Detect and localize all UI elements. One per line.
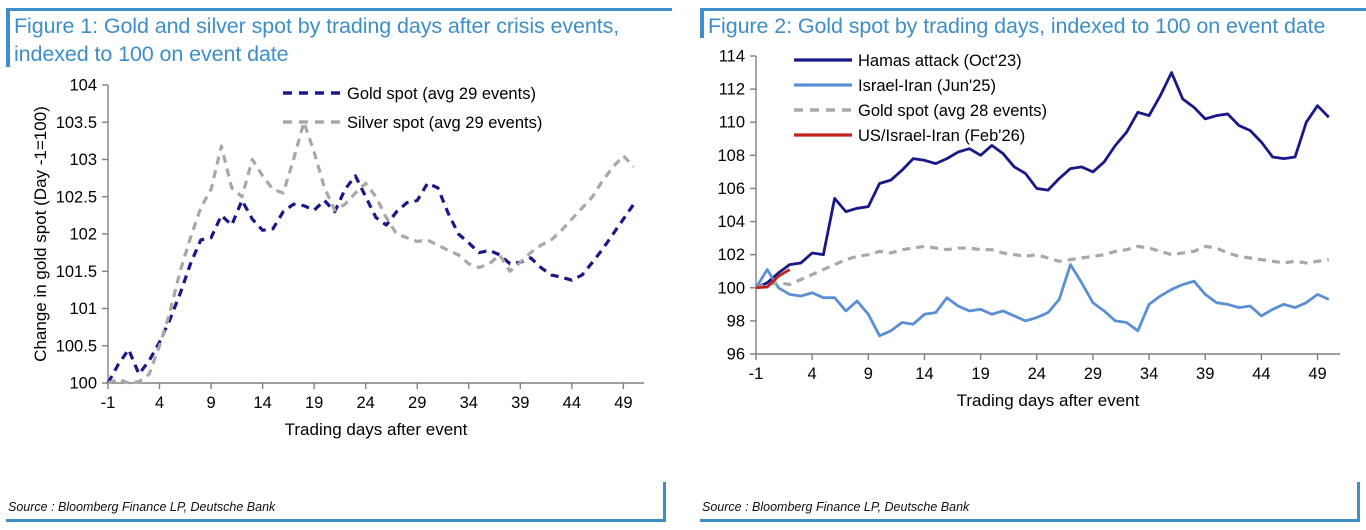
legend-label: Israel-Iran (Jun'25) [858,77,996,95]
legend-label: Silver spot (avg 29 events) [347,114,542,132]
legend-label: Gold spot (avg 29 events) [347,85,536,103]
y-tick-label: 114 [719,48,745,66]
x-tick-label: 34 [460,394,478,412]
x-axis-title: Trading days after event [957,391,1140,410]
figure-1-chart: 100100.5101101.5102102.5103103.5104-1491… [0,71,672,461]
x-tick-label: 24 [1028,365,1046,383]
legend-label: Hamas attack (Oct'23) [858,52,1022,70]
y-tick-label: 98 [727,313,745,331]
x-axis-title: Trading days after event [285,420,468,439]
x-tick-label: 9 [864,365,873,383]
x-tick-label: 14 [915,365,933,383]
y-tick-label: 102 [717,247,745,265]
series-line-2 [756,265,1329,336]
source-rule [700,519,1360,522]
figures-page: Figure 1: Gold and silver spot by tradin… [0,0,1366,530]
x-tick-label: 39 [511,394,529,412]
series-line-1 [108,176,634,383]
title-top-rule [6,8,672,11]
figure-1-title-block: Figure 1: Gold and silver spot by tradin… [0,8,672,71]
x-tick-label: 19 [971,365,989,383]
y-tick-label: 106 [717,180,745,198]
y-tick-label: 104 [69,76,97,94]
figure-2-title-block: Figure 2: Gold spot by trading days, ind… [694,8,1366,42]
legend-label: US/Israel-Iran (Feb'26) [858,127,1025,145]
y-tick-label: 100.5 [56,337,97,355]
figure-1-source-block: Source : Bloomberg Finance LP, Deutsche … [0,500,672,522]
y-tick-label: 96 [727,346,745,364]
figure-1-panel: Figure 1: Gold and silver spot by tradin… [0,0,672,530]
figure-2-chart: 9698100102104106108110112114-14914192429… [694,42,1366,432]
figure-1-title: Figure 1: Gold and silver spot by tradin… [14,12,672,69]
x-tick-label: 29 [1084,365,1102,383]
y-tick-label: 103 [69,151,97,169]
y-tick-label: 108 [717,147,745,165]
title-accent-bar [6,8,10,67]
source-accent-bar [1357,482,1360,522]
figure-1-svg: 100100.5101101.5102102.5103103.5104-1491… [0,71,672,461]
y-tick-label: 102 [69,225,97,243]
figure-2-panel: Figure 2: Gold spot by trading days, ind… [694,0,1366,530]
y-tick-label: 110 [719,114,745,132]
y-tick-label: 102.5 [56,188,97,206]
x-tick-label: -1 [749,365,764,383]
source-accent-bar [663,482,666,522]
title-accent-bar [700,8,704,38]
x-tick-label: 9 [206,394,215,412]
series-line-3 [756,247,1329,288]
series-line-2 [108,122,634,383]
figure-2-title: Figure 2: Gold spot by trading days, ind… [708,12,1366,40]
y-tick-label: 112 [719,81,745,99]
y-tick-label: 100 [69,374,97,392]
x-tick-label: -1 [101,394,116,412]
x-tick-label: 4 [155,394,164,412]
y-tick-label: 101 [69,300,97,318]
x-tick-label: 44 [563,394,581,412]
title-top-rule [700,8,1366,11]
legend-label: Gold spot (avg 28 events) [858,102,1047,120]
x-tick-label: 14 [253,394,271,412]
x-tick-label: 19 [305,394,323,412]
x-tick-label: 49 [614,394,632,412]
figure-2-svg: 9698100102104106108110112114-14914192429… [694,42,1366,432]
y-tick-label: 101.5 [56,263,97,281]
x-tick-label: 24 [357,394,375,412]
x-tick-label: 49 [1308,365,1326,383]
y-axis-title: Change in gold spot (Day -1=100) [31,106,50,362]
x-tick-label: 34 [1140,365,1158,383]
source-rule [6,519,666,522]
x-tick-label: 39 [1196,365,1214,383]
y-tick-label: 103.5 [56,114,97,132]
x-tick-label: 29 [408,394,426,412]
y-tick-label: 100 [717,280,745,298]
figure-1-source: Source : Bloomberg Finance LP, Deutsche … [0,500,672,519]
y-tick-label: 104 [717,213,745,231]
x-tick-label: 44 [1252,365,1270,383]
figure-2-source-block: Source : Bloomberg Finance LP, Deutsche … [694,500,1366,522]
x-tick-label: 4 [808,365,817,383]
figure-2-source: Source : Bloomberg Finance LP, Deutsche … [694,500,1366,519]
